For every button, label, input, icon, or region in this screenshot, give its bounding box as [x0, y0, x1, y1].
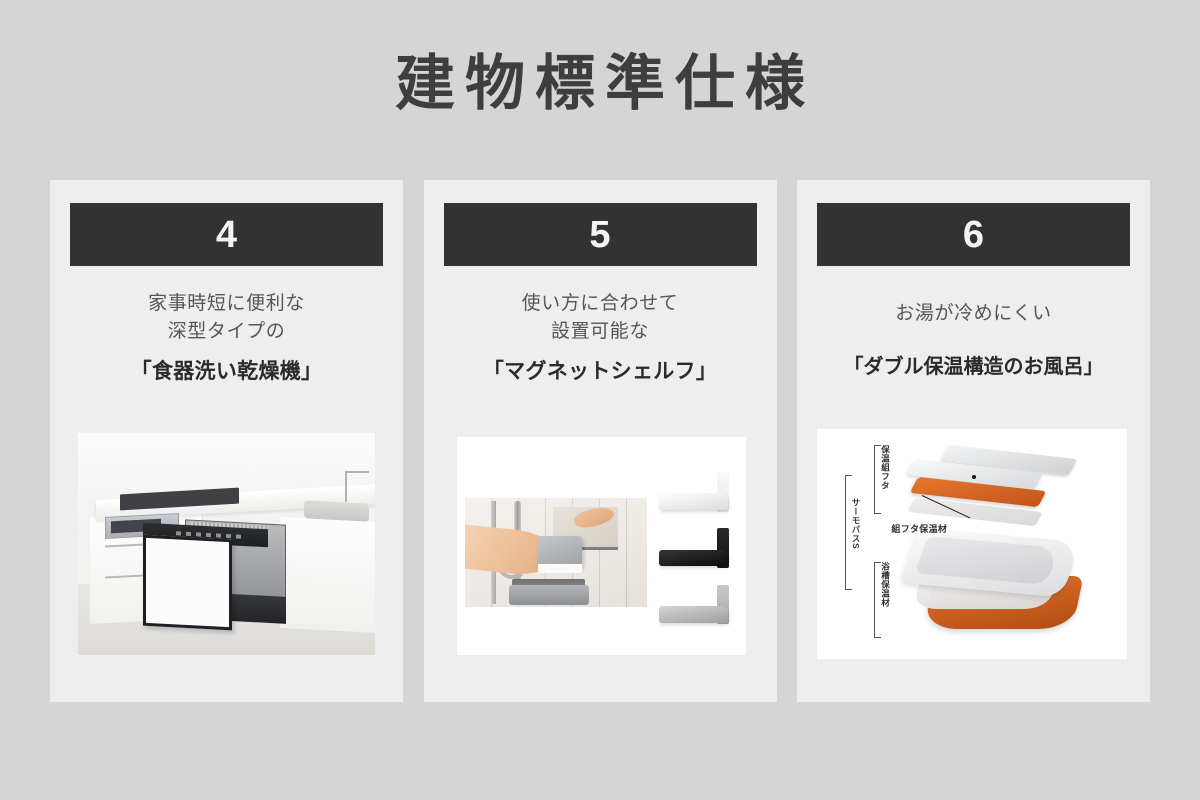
card-description-line2: 設置可能な [424, 318, 777, 346]
card-description-4: 家事時短に便利な 深型タイプの [50, 290, 403, 346]
diagram-leader-dot [972, 475, 976, 479]
magnet-shelf-scene [457, 437, 746, 655]
shelf-tray [659, 493, 728, 510]
card-description-5: 使い方に合わせて 設置可能な [424, 290, 777, 346]
kitchen-scene [78, 433, 375, 655]
card-number-badge-6: 6 [817, 203, 1130, 266]
spec-card-6[interactable]: 6 お湯が冷めにくい 「ダブル保温構造のお風呂」 保温組フタ [797, 180, 1150, 702]
card-description-line1: 家事時短に便利な [50, 290, 403, 318]
bathtub-insulation-diagram: 保温組フタ サーモバスS 浴槽保温材 組フタ保温材 [817, 429, 1127, 659]
bathroom-install-scene [465, 498, 647, 607]
diagram-label-lid-insulation: 組フタ保温材 [891, 522, 947, 535]
bathtub-diagram-scene: 保温組フタ サーモバスS 浴槽保温材 組フタ保温材 [817, 429, 1127, 659]
card-product-title-4: 「食器洗い乾燥機」 [50, 355, 403, 385]
card-number-badge-4: 4 [70, 203, 383, 266]
dishwasher-front-door [143, 535, 232, 631]
magnet-shelf-color-variants [659, 472, 734, 625]
kitchen-sink [304, 500, 369, 521]
spec-card-4[interactable]: 4 家事時短に便利な 深型タイプの 「食器洗い乾燥機」 [50, 180, 403, 702]
spec-card-5[interactable]: 5 使い方に合わせて 設置可能な 「マグネットシェルフ」 [424, 180, 777, 702]
mounted-shelf [509, 585, 589, 605]
card-text-block-5: 使い方に合わせて 設置可能な 「マグネットシェルフ」 [424, 290, 777, 385]
diagram-label-thermo-bath: サーモバスS [851, 498, 860, 590]
card-text-block-4: 家事時短に便利な 深型タイプの 「食器洗い乾燥機」 [50, 290, 403, 385]
diagram-label-lid-assembly: 保温組フタ [881, 445, 890, 514]
card-description-line1: 使い方に合わせて [424, 290, 777, 318]
card-number-badge-5: 5 [444, 203, 757, 266]
faucet-spout-icon [345, 471, 369, 473]
shelf-variant-white [659, 472, 734, 512]
card-product-title-6: 「ダブル保温構造のお風呂」 [797, 350, 1150, 379]
kitchen-dishwasher-photo [78, 433, 375, 655]
spec-cards-row: 4 家事時短に便利な 深型タイプの 「食器洗い乾燥機」 [50, 180, 1150, 702]
shelf-variant-gray [659, 585, 734, 625]
magnet-shelf-photo [457, 437, 746, 655]
page-title: 建物標準仕様 [0, 52, 1200, 115]
kitchen-cabinet-right [280, 517, 375, 633]
card-description-6: お湯が冷めにくい [797, 300, 1150, 328]
shelf-variant-black [659, 528, 734, 568]
magnet-shelf-in-hand [538, 536, 582, 565]
shelf-tray [659, 606, 728, 623]
card-description-line1: お湯が冷めにくい [797, 300, 1150, 328]
shelf-tray [659, 550, 728, 567]
card-description-line2: 深型タイプの [50, 318, 403, 346]
card-text-block-6: お湯が冷めにくい 「ダブル保温構造のお風呂」 [797, 300, 1150, 379]
faucet-icon [345, 471, 347, 502]
card-product-title-5: 「マグネットシェルフ」 [424, 355, 777, 385]
diagram-label-tub-insulation: 浴槽保温材 [881, 562, 890, 638]
